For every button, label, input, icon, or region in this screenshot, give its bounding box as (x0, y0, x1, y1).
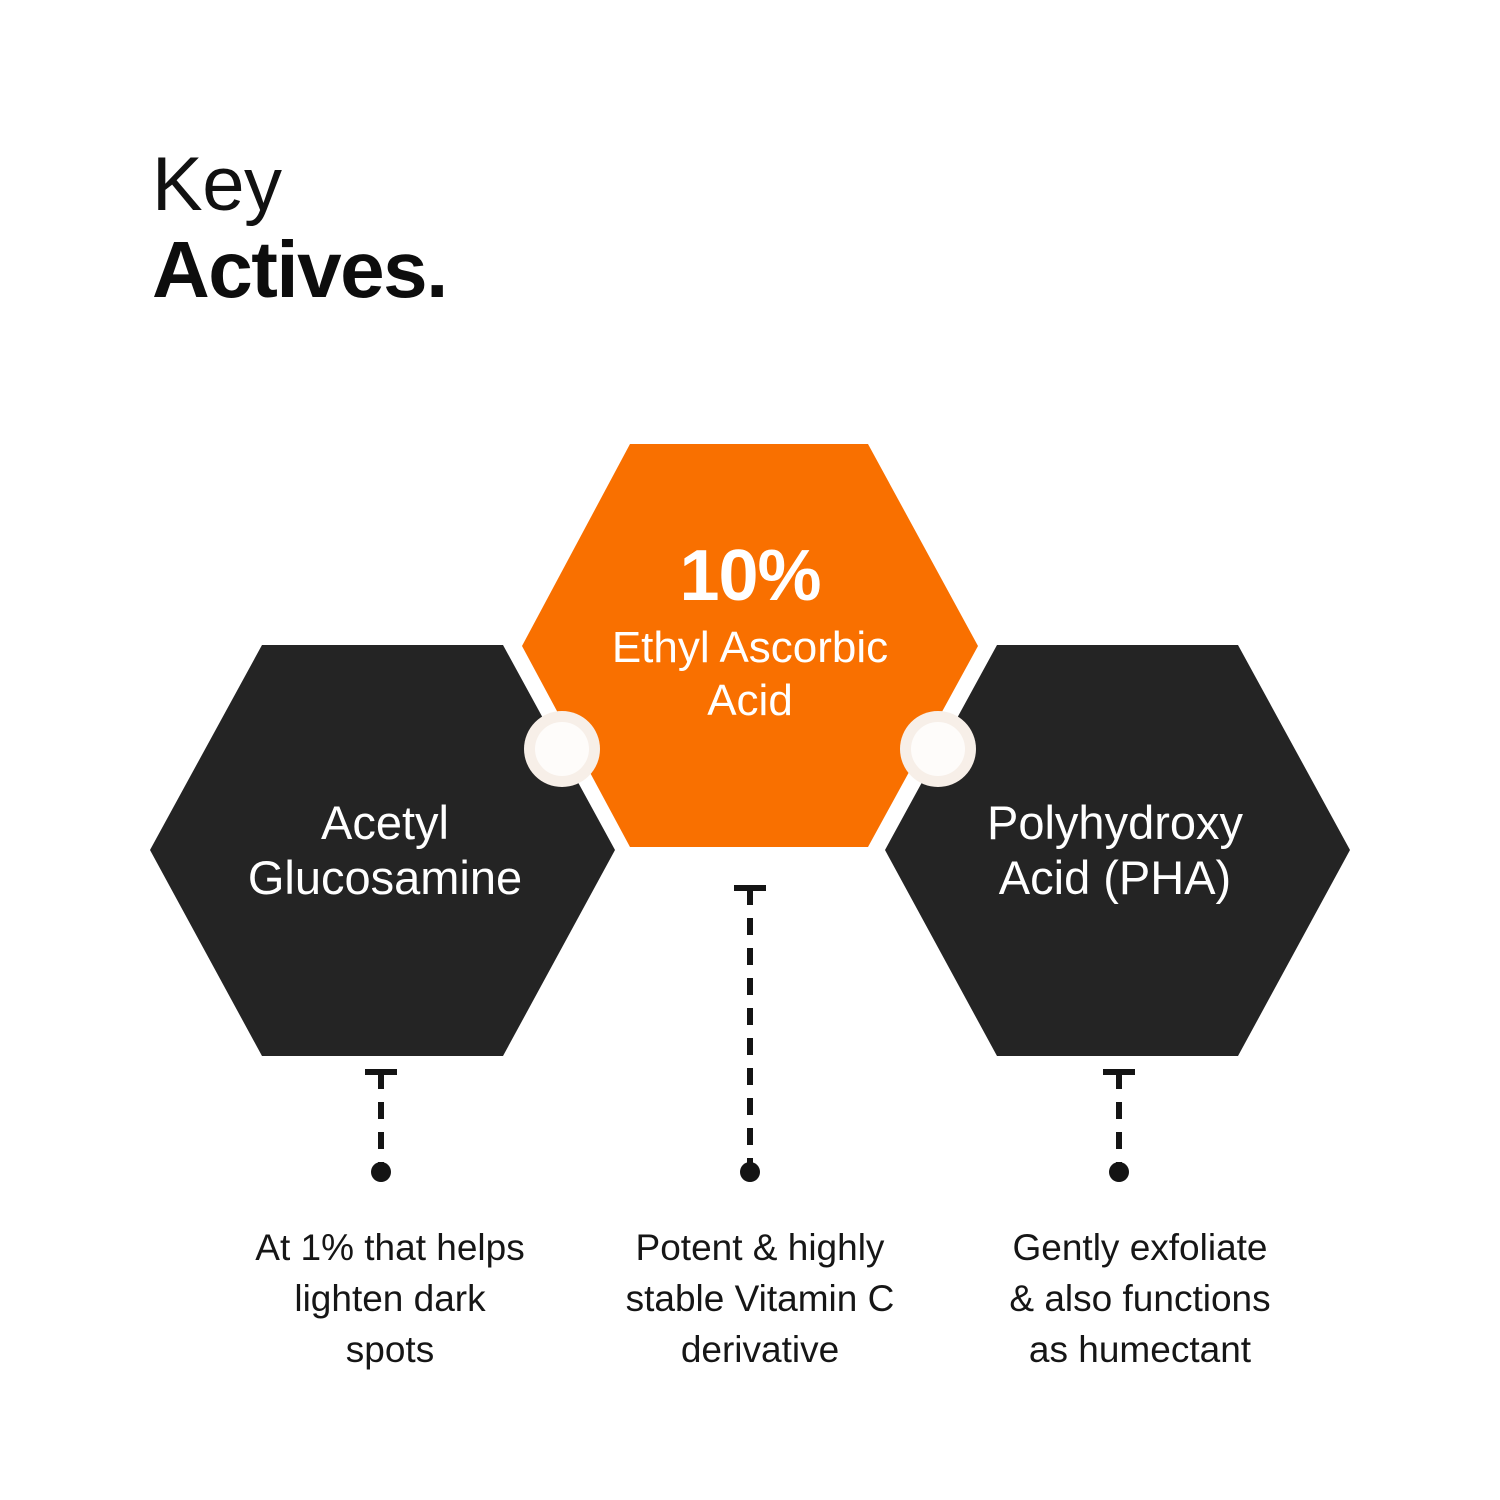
caption-line-1: At 1% that helps (255, 1227, 524, 1268)
leader-line-acetyl-glucosamine (365, 1072, 397, 1182)
caption-acetyl-glucosamine: At 1% that helps lighten dark spots (170, 1222, 610, 1375)
caption-line-1: Gently exfoliate (1012, 1227, 1267, 1268)
caption-line-3: as humectant (1029, 1329, 1251, 1370)
hexagon-acetyl-glucosamine[interactable] (150, 645, 615, 1056)
hexagon-ethyl-ascorbic-acid[interactable] (522, 444, 978, 847)
connector-node-right (900, 711, 976, 787)
key-actives-infographic: Key Actives. (0, 0, 1500, 1500)
caption-line-1: Potent & highly (636, 1227, 885, 1268)
leader-line-ethyl-ascorbic-acid (734, 888, 766, 1182)
caption-line-2: lighten dark (294, 1278, 485, 1319)
caption-polyhydroxy-acid: Gently exfoliate & also functions as hum… (940, 1222, 1340, 1375)
caption-line-2: & also functions (1009, 1278, 1270, 1319)
connector-node-left (524, 711, 600, 787)
caption-line-3: spots (346, 1329, 434, 1370)
hexagon-polyhydroxy-acid[interactable] (885, 645, 1350, 1056)
caption-ethyl-ascorbic-acid: Potent & highly stable Vitamin C derivat… (565, 1222, 955, 1375)
leader-line-polyhydroxy-acid (1103, 1072, 1135, 1182)
caption-line-3: derivative (681, 1329, 839, 1370)
caption-line-2: stable Vitamin C (626, 1278, 895, 1319)
